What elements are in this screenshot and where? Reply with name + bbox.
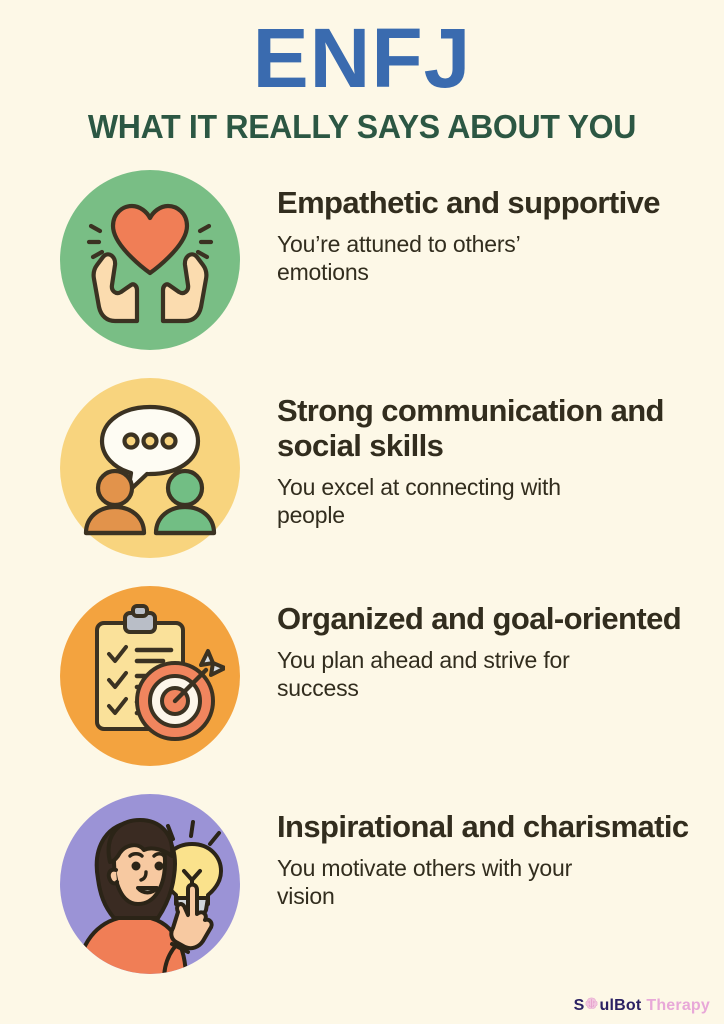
trait-heading: Inspirational and charismatic [277, 810, 697, 845]
trait-description: You plan ahead and strive for success [277, 646, 617, 702]
trait-description: You motivate others with your vision [277, 854, 607, 910]
trait-row: Empathetic and supportive You’re attuned… [0, 170, 724, 378]
brand-name-part-two: ulBot [599, 997, 641, 1015]
trait-description: You’re attuned to others’ emotions [277, 230, 607, 286]
trait-text: Inspirational and charismatic You motiva… [240, 794, 724, 910]
speech-bubble-two-people-icon [60, 378, 240, 558]
brand-name-therapy: Therapy [646, 997, 710, 1015]
trait-row: Organized and goal-oriented You plan ahe… [0, 586, 724, 794]
page-subtitle: WHAT IT REALLY SAYS ABOUT YOU [11, 108, 713, 146]
trait-heading: Strong communication and social skills [277, 394, 707, 463]
trait-row: Inspirational and charismatic You motiva… [0, 794, 724, 1002]
header: ENFJ WHAT IT REALLY SAYS ABOUT YOU [0, 0, 724, 146]
trait-text: Empathetic and supportive You’re attuned… [240, 170, 724, 286]
soulbot-therapy-watermark: S ulBot Therapy [574, 996, 710, 1016]
brain-icon [584, 996, 599, 1016]
trait-heading: Empathetic and supportive [277, 186, 697, 221]
trait-text: Strong communication and social skills Y… [240, 378, 724, 529]
trait-row: Strong communication and social skills Y… [0, 378, 724, 586]
page-title: ENFJ [0, 14, 724, 102]
trait-description: You excel at connecting with people [277, 473, 607, 529]
brand-name-part-one: S [574, 997, 585, 1015]
woman-lightbulb-icon [60, 794, 240, 974]
clipboard-target-icon [60, 586, 240, 766]
trait-list: Empathetic and supportive You’re attuned… [0, 170, 724, 1002]
trait-text: Organized and goal-oriented You plan ahe… [240, 586, 724, 702]
trait-heading: Organized and goal-oriented [277, 602, 697, 637]
hands-holding-heart-icon [60, 170, 240, 350]
